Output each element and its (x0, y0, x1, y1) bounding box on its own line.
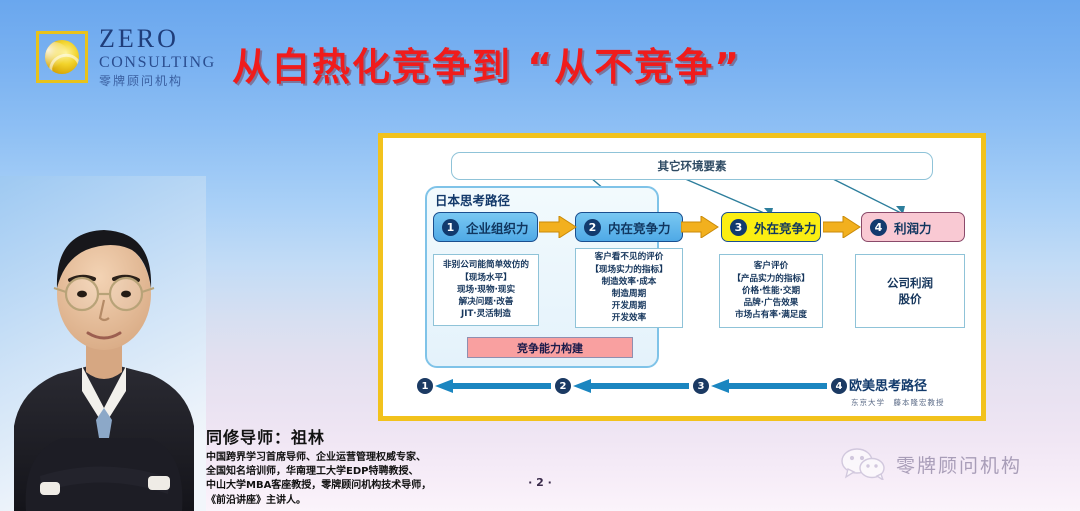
forward-arrow-2-icon (681, 216, 719, 238)
node-1-enterprise-organization[interactable]: 1 企业组织力 (433, 212, 538, 242)
node-2-label: 内在竞争力 (608, 218, 671, 237)
brand-logo: ZERO CONSULTING 零牌顾问机构 (36, 26, 216, 87)
back-number-3: 3 (693, 378, 709, 394)
back-arrow-1-icon (435, 379, 551, 393)
back-arrow-2-icon (573, 379, 689, 393)
detail-box-1: 非别公司能简单效仿的 【现场水平】 现场·现物·现实 解决问题·改善 JIT·灵… (433, 254, 539, 326)
bio-line-4: 《前沿讲座》主讲人。 (206, 494, 536, 508)
node-1-label: 企业组织力 (466, 218, 529, 237)
brand-consulting: CONSULTING (99, 55, 216, 71)
detail-3-line-5: 市场占有率·满足度 (735, 309, 807, 321)
node-4-profit-power[interactable]: 4 利润力 (861, 212, 965, 242)
detail-4-line-2: 股价 (899, 291, 922, 307)
japan-path-label: 日本思考路径 (435, 190, 510, 209)
portrait-illustration (0, 176, 206, 511)
node-2-internal-competitiveness[interactable]: 2 内在竞争力 (575, 212, 683, 242)
forward-arrow-3-icon (823, 216, 861, 238)
detail-2-line-4: 制造周期 (612, 288, 646, 300)
detail-2-line-2: 【现场实力的指标】 (590, 264, 667, 276)
logo-sphere-icon (45, 40, 79, 74)
detail-1-line-3: 现场·现物·现实 (457, 284, 515, 296)
europe-path-label: 欧美思考路径 (849, 375, 927, 394)
slide-canvas: ZERO CONSULTING 零牌顾问机构 从白热化竞争到 “从不竞争” (0, 0, 1080, 511)
node-2-number: 2 (584, 219, 601, 236)
node-4-label: 利润力 (894, 218, 932, 237)
speaker-portrait (0, 176, 206, 511)
brand-zero: ZERO (99, 26, 216, 52)
speaker-bio: 同修导师：祖林 中国跨界学习首席导师、企业运营管理权威专家、 全国知名培训师，华… (206, 424, 536, 508)
detail-2-line-6: 开发效率 (612, 312, 646, 324)
wechat-watermark: 零牌顾问机构 (840, 448, 1022, 480)
detail-1-line-1: 非别公司能简单效仿的 (443, 259, 529, 271)
detail-2-line-1: 客户看不见的评价 (595, 251, 664, 263)
brand-chinese: 零牌顾问机构 (99, 75, 216, 87)
forward-arrow-1-icon (539, 216, 577, 238)
node-3-label: 外在竞争力 (754, 218, 817, 237)
capability-building-bar: 竞争能力构建 (467, 337, 633, 358)
detail-box-2: 客户看不见的评价 【现场实力的指标】 制造效率·成本 制造周期 开发周期 开发效… (575, 248, 683, 328)
watermark-text: 零牌顾问机构 (896, 451, 1022, 478)
detail-3-line-2: 【产品实力的指标】 (732, 273, 809, 285)
environment-factors-bar: 其它环境要素 (451, 152, 933, 180)
back-number-2: 2 (555, 378, 571, 394)
brand-logo-text: ZERO CONSULTING 零牌顾问机构 (99, 26, 216, 87)
detail-1-line-2: 【现场水平】 (460, 272, 512, 284)
speaker-name: 同修导师：祖林 (206, 424, 536, 448)
detail-box-3: 客户评价 【产品实力的指标】 价格·性能·交期 品牌·广告效果 市场占有率·满足… (719, 254, 823, 328)
bio-line-1: 中国跨界学习首席导师、企业运营管理权威专家、 (206, 451, 536, 465)
detail-1-line-5: JIT·灵活制造 (461, 308, 511, 320)
detail-3-line-1: 客户评价 (754, 260, 788, 272)
detail-box-4: 公司利润 股价 (855, 254, 965, 328)
detail-2-line-3: 制造效率·成本 (602, 276, 657, 288)
zero-logo-icon (36, 31, 88, 83)
node-3-external-competitiveness[interactable]: 3 外在竞争力 (721, 212, 821, 242)
detail-3-line-3: 价格·性能·交期 (742, 285, 800, 297)
detail-1-line-4: 解决问题·改善 (459, 296, 514, 308)
slide-title: 从白热化竞争到 “从不竞争” (232, 36, 832, 91)
node-1-number: 1 (442, 219, 459, 236)
node-3-number: 3 (730, 219, 747, 236)
wechat-icon (840, 448, 886, 480)
detail-4-line-1: 公司利润 (887, 275, 933, 291)
back-number-4: 4 (831, 378, 847, 394)
diagram-credit: 东京大学 藤本隆宏教授 (851, 397, 945, 408)
back-arrow-3-icon (711, 379, 827, 393)
detail-3-line-4: 品牌·广告效果 (744, 297, 799, 309)
detail-2-line-5: 开发周期 (612, 300, 646, 312)
back-number-1: 1 (417, 378, 433, 394)
diagram-panel: 其它环境要素 日本思考路径 1 企业组织力 2 内在竞争力 3 外在竞争力 4 … (378, 133, 986, 421)
node-4-number: 4 (870, 219, 887, 236)
